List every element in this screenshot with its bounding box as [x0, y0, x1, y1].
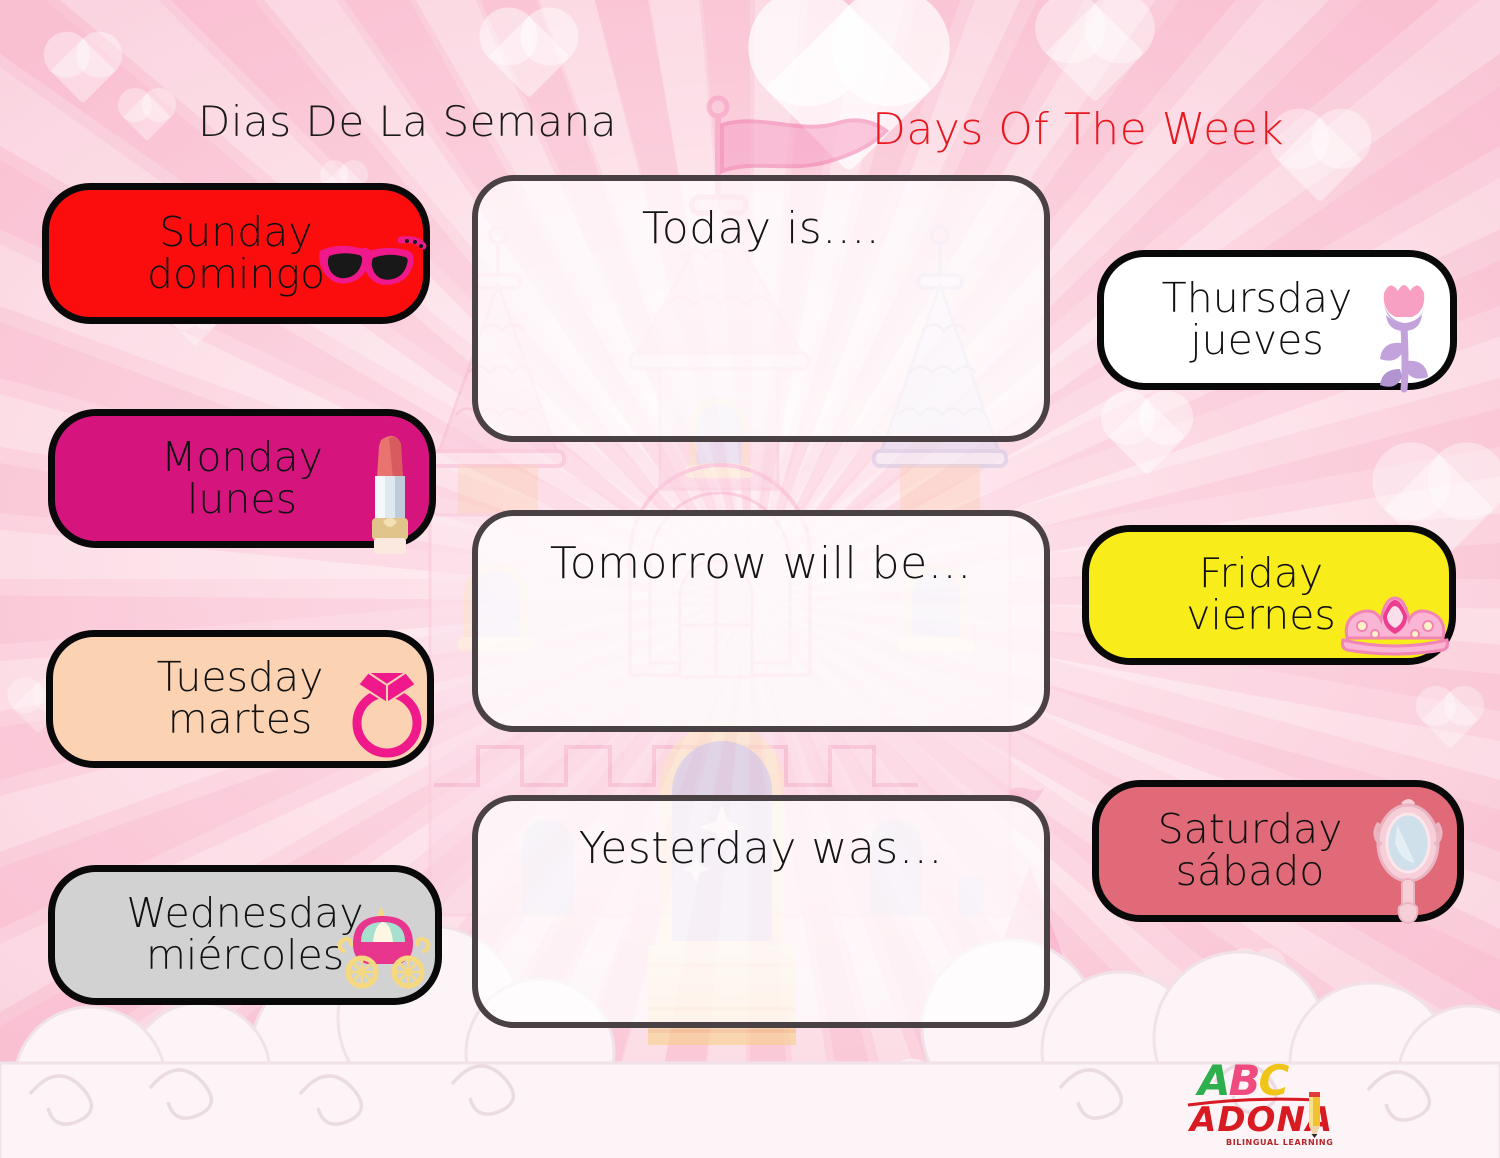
prompt-box-tomorrow[interactable]: Tomorrow will be…: [472, 510, 1050, 732]
day-card-wednesday-label: Wednesday miércoles: [112, 893, 377, 977]
day-label-english: Monday: [161, 437, 323, 479]
day-card-monday-label: Monday lunes: [147, 437, 337, 521]
day-label-english: Friday: [1186, 553, 1336, 595]
day-card-tuesday-label: Tuesday martes: [143, 657, 338, 741]
day-label-english: Sunday: [147, 212, 325, 254]
day-label-english: Tuesday: [157, 657, 324, 699]
day-card-thursday-label: Thursday jueves: [1148, 278, 1407, 362]
page-title-english: Days Of The Week: [872, 104, 1284, 155]
day-label-english: Saturday: [1158, 809, 1343, 851]
pencil-icon: [1302, 1092, 1328, 1144]
day-card-wednesday[interactable]: Wednesday miércoles: [48, 865, 442, 1005]
prompt-label-today: Today is....: [642, 203, 880, 436]
day-label-spanish: domingo: [147, 254, 325, 296]
prompt-label-yesterday: Yesterday was…: [579, 823, 943, 1022]
day-card-sunday-label: Sunday domingo: [133, 212, 339, 296]
day-label-spanish: viernes: [1186, 595, 1336, 637]
lipstick-icon: [359, 430, 421, 556]
logo-tagline: BILINGUAL LEARNING: [1226, 1138, 1333, 1147]
prompt-box-today[interactable]: Today is....: [472, 175, 1050, 442]
day-card-sunday[interactable]: Sunday domingo: [42, 183, 430, 324]
day-card-tuesday[interactable]: Tuesday martes: [46, 630, 434, 768]
day-label-spanish: martes: [157, 699, 324, 741]
days-of-the-week-poster: Dias De La Semana Days Of The Week Sunda…: [0, 0, 1500, 1158]
abc-adonai-logo: ABC ADONA BILINGUAL LEARNING: [1186, 1056, 1346, 1152]
day-card-friday[interactable]: Friday viernes: [1082, 525, 1456, 665]
day-card-friday-label: Friday viernes: [1172, 553, 1366, 637]
day-label-english: Wednesday: [126, 893, 363, 935]
day-label-spanish: lunes: [161, 479, 323, 521]
day-card-saturday-label: Saturday sábado: [1144, 809, 1413, 893]
day-label-english: Thursday: [1162, 278, 1353, 320]
day-card-thursday[interactable]: Thursday jueves: [1097, 250, 1457, 390]
day-label-spanish: miércoles: [126, 935, 363, 977]
day-card-saturday[interactable]: Saturday sábado: [1092, 780, 1464, 922]
day-card-monday[interactable]: Monday lunes: [48, 409, 436, 548]
prompt-box-yesterday[interactable]: Yesterday was…: [472, 795, 1050, 1028]
page-title-spanish: Dias De La Semana: [198, 97, 617, 146]
day-label-spanish: jueves: [1162, 320, 1353, 362]
diamond-ring-icon: [339, 655, 435, 765]
prompt-label-tomorrow: Tomorrow will be…: [550, 538, 972, 726]
day-label-spanish: sábado: [1158, 851, 1343, 893]
